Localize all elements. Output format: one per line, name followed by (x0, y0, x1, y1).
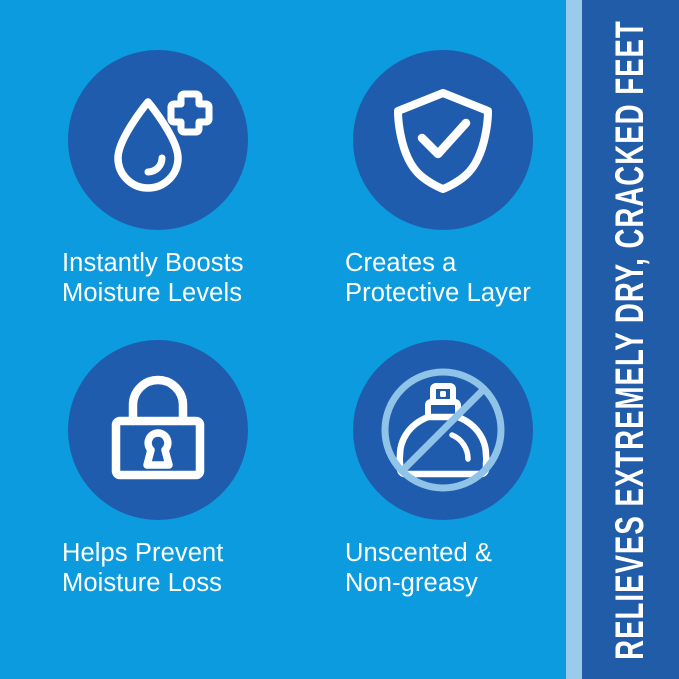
feature-item-moisture-lock: Helps Prevent Moisture Loss (40, 340, 248, 598)
padlock-icon (101, 373, 215, 487)
feature-item-unscented: Unscented & Non-greasy (325, 340, 533, 598)
feature-caption: Instantly Boosts Moisture Levels (40, 248, 248, 308)
feature-icon-badge (68, 340, 248, 520)
side-banner: RELIEVES EXTREMELY DRY, CRACKED FEET (582, 0, 679, 679)
feature-caption: Creates a Protective Layer (325, 248, 533, 308)
feature-caption: Unscented & Non-greasy (325, 538, 533, 598)
feature-icon-badge (68, 50, 248, 230)
feature-grid: Instantly Boosts Moisture Levels Creates… (0, 0, 566, 679)
banner-headline-text: RELIEVES EXTREMELY DRY, CRACKED FEET (608, 20, 653, 660)
shield-check-icon (384, 81, 502, 199)
feature-caption: Helps Prevent Moisture Loss (40, 538, 248, 598)
banner-headline: RELIEVES EXTREMELY DRY, CRACKED FEET (614, 0, 648, 679)
feature-item-protective-layer: Creates a Protective Layer (325, 50, 533, 308)
feature-icon-badge (353, 340, 533, 520)
no-fragrance-icon (376, 363, 510, 497)
product-feature-graphic: Instantly Boosts Moisture Levels Creates… (0, 0, 679, 679)
feature-item-moisture-boost: Instantly Boosts Moisture Levels (40, 50, 248, 308)
feature-icon-badge (353, 50, 533, 230)
accent-divider-strip (566, 0, 582, 679)
prohibition-sign-icon (385, 372, 501, 488)
water-drop-plus-icon (98, 80, 218, 200)
